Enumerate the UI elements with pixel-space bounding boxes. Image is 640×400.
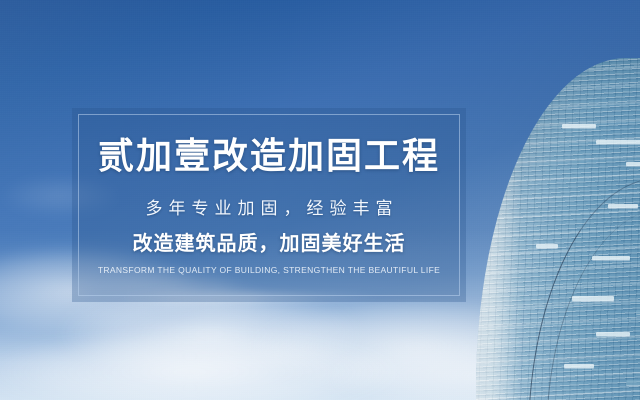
window-highlight: [596, 140, 640, 144]
window-highlight: [636, 310, 640, 314]
english-tagline: TRANSFORM THE QUALITY OF BUILDING, STREN…: [72, 266, 466, 275]
window-highlight: [626, 380, 640, 385]
skyscraper-photo: [440, 0, 640, 400]
hero-banner: 贰加壹改造加固工程 多年专业加固，经验丰富 改造建筑品质，加固美好生活 TRAN…: [0, 0, 640, 400]
window-highlight: [592, 256, 630, 260]
window-highlight: [608, 204, 638, 208]
text-overlay-panel: 贰加壹改造加固工程 多年专业加固，经验丰富 改造建筑品质，加固美好生活 TRAN…: [72, 108, 466, 302]
window-highlight: [564, 364, 594, 368]
slogan: 改造建筑品质，加固美好生活: [72, 234, 466, 254]
tower-body: [476, 58, 640, 400]
window-highlight: [536, 244, 558, 248]
window-highlight: [596, 332, 630, 336]
page-title: 贰加壹改造加固工程: [72, 138, 466, 174]
window-highlight: [572, 296, 614, 301]
tower-edge-sheen: [476, 58, 522, 400]
window-highlight: [626, 162, 640, 166]
subtitle: 多年专业加固，经验丰富: [72, 200, 466, 217]
window-highlight: [562, 124, 596, 128]
